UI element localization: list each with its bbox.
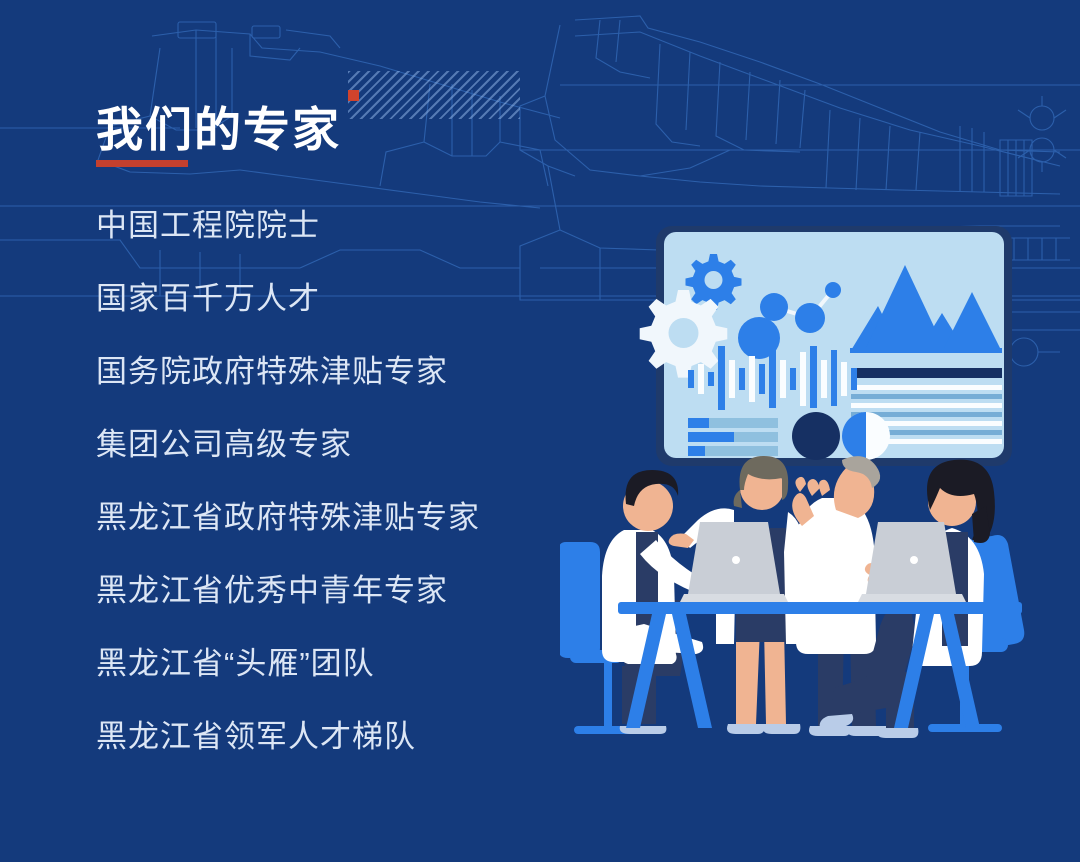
expert-text-column: 我们的专家 中国工程院院士 国家百千万人才 国务院政府特殊津贴专家 集团公司高级… xyxy=(96,60,566,138)
red-square-dot-icon xyxy=(348,90,359,101)
dark-circle-widget xyxy=(792,412,840,460)
list-item: 中国工程院院士 xyxy=(96,208,566,244)
gear-large-icon xyxy=(640,290,728,378)
poster-canvas: 我们的专家 中国工程院院士 国家百千万人才 国务院政府特殊津贴专家 集团公司高级… xyxy=(0,0,1080,862)
gear-small-icon xyxy=(686,254,742,310)
meeting-scene xyxy=(560,456,1024,738)
hatch-band-decoration xyxy=(348,71,520,119)
progress-bars-widget xyxy=(688,418,778,456)
list-item: 黑龙江省政府特殊津贴专家 xyxy=(96,500,566,536)
list-item: 国家百千万人才 xyxy=(96,281,566,317)
title-underline-rule xyxy=(96,160,188,167)
list-item: 黑龙江省领军人才梯队 xyxy=(96,719,566,755)
list-item: 黑龙江省“头雁”团队 xyxy=(96,646,566,682)
pie-chart-widget xyxy=(842,412,890,460)
expert-credentials-list: 中国工程院院士 国家百千万人才 国务院政府特殊津贴专家 集团公司高级专家 黑龙江… xyxy=(96,208,566,792)
list-item: 黑龙江省优秀中青年专家 xyxy=(96,573,566,609)
title-row: 我们的专家 xyxy=(96,60,566,138)
dashboard-panel xyxy=(640,226,1012,466)
experts-meeting-illustration xyxy=(560,210,1080,770)
page-title: 我们的专家 xyxy=(96,91,341,169)
list-item: 国务院政府特殊津贴专家 xyxy=(96,354,566,390)
list-item: 集团公司高级专家 xyxy=(96,427,566,463)
